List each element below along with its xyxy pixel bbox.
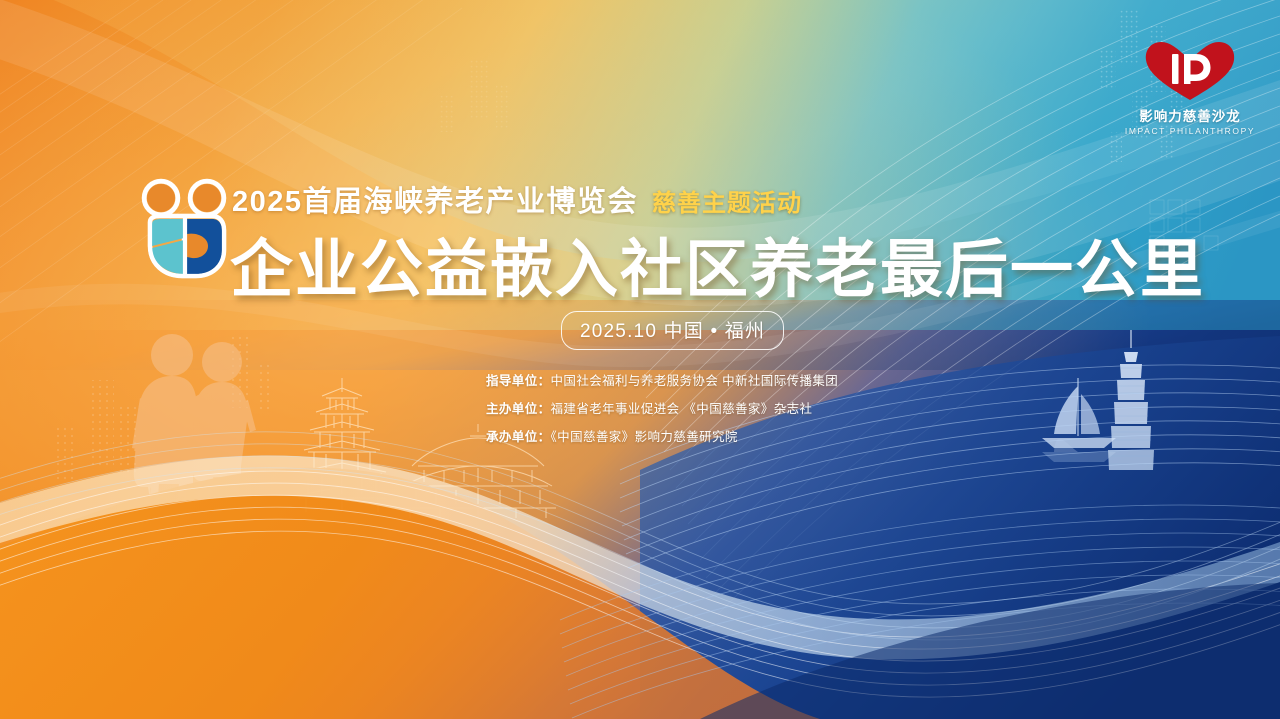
logo-name-en: IMPACT PHILANTHROPY	[1122, 126, 1258, 136]
logo-name-cn: 影响力慈善沙龙	[1122, 105, 1258, 125]
org-value: 《中国慈善家》影响力慈善研究院	[551, 430, 738, 444]
date-location-badge: 2025.10 中国 • 福州	[561, 311, 784, 350]
org-line: 承办单位：《中国慈善家》影响力慈善研究院	[486, 426, 838, 445]
org-label: 指导单位：	[486, 374, 551, 388]
organizations-block: 指导单位：中国社会福利与养老服务协会 中新社国际传播集团 主办单位：福建省老年事…	[486, 370, 838, 445]
content-overlay: 2025首届海峡养老产业博览会 慈善主题活动 企业公益嵌入社区养老最后一公里 2…	[0, 0, 1280, 719]
two-people-care-emblem	[134, 176, 238, 282]
brand-logo: 影响力慈善沙龙 IMPACT PHILANTHROPY	[1122, 38, 1258, 136]
org-value: 福建省老年事业促进会 《中国慈善家》杂志社	[551, 402, 813, 416]
page-title: 企业公益嵌入社区养老最后一公里	[230, 219, 1205, 310]
charity-theme-badge: 慈善主题活动	[652, 183, 802, 218]
org-label: 承办单位：	[486, 430, 551, 444]
banner-canvas: 2025首届海峡养老产业博览会 慈善主题活动 企业公益嵌入社区养老最后一公里 2…	[0, 0, 1280, 719]
emblem-icon	[134, 176, 238, 282]
org-label: 主办单位：	[486, 402, 551, 416]
org-line: 指导单位：中国社会福利与养老服务协会 中新社国际传播集团	[486, 370, 838, 389]
org-value: 中国社会福利与养老服务协会 中新社国际传播集团	[551, 374, 839, 388]
org-line: 主办单位：福建省老年事业促进会 《中国慈善家》杂志社	[486, 398, 838, 417]
event-kicker: 2025首届海峡养老产业博览会	[232, 178, 638, 220]
heart-icon	[1122, 38, 1258, 104]
kicker-row: 2025首届海峡养老产业博览会 慈善主题活动	[232, 178, 802, 220]
